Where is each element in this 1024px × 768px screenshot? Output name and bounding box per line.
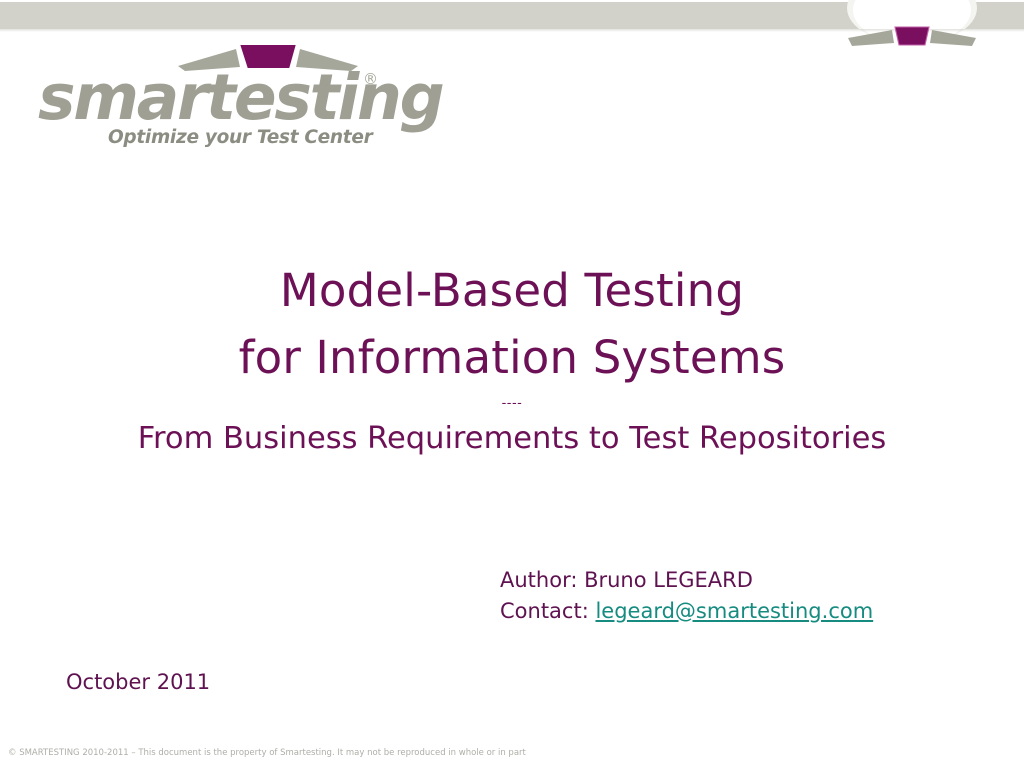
presentation-date: October 2011 [66,670,210,695]
subtitle: From Business Requirements to Test Repos… [0,422,1024,456]
smartesting-logo: smartesting ® Optimize your Test Center [30,38,420,168]
author-contact-block: Author: Bruno LEGEARD Contact: legeard@s… [500,565,873,627]
logo-tagline: Optimize your Test Center [108,129,372,148]
logo-wordmark-text: smartesting [38,66,443,129]
presentation-title-slide: smartesting ® Optimize your Test Center … [0,0,1024,768]
title-separator: ---- [0,397,1024,410]
contact-label: Contact: [500,599,595,623]
title-line-2: for Information Systems [0,325,1024,392]
author-line: Author: Bruno LEGEARD [500,565,873,596]
corner-swoosh-icon [848,24,976,50]
registered-trademark-icon: ® [363,72,378,87]
contact-line: Contact: legeard@smartesting.com [500,596,873,627]
copyright-footer: © SMARTESTING 2010-2011 – This document … [8,748,526,758]
contact-email-link[interactable]: legeard@smartesting.com [595,599,873,623]
logo-wordmark-group: smartesting ® Optimize your Test Center [30,66,420,166]
title-line-1: Model-Based Testing [0,258,1024,325]
title-block: Model-Based Testing for Information Syst… [0,258,1024,456]
